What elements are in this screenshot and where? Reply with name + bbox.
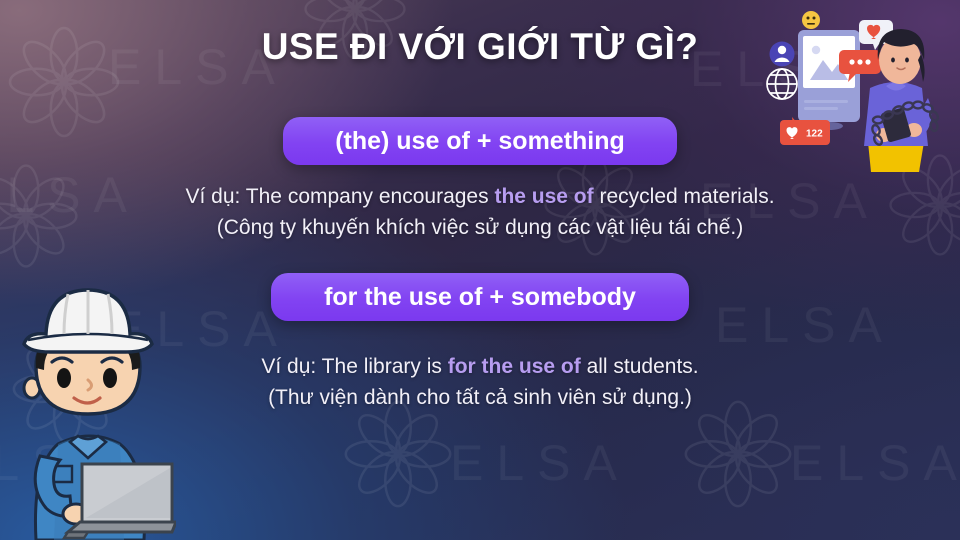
laptop bbox=[64, 464, 176, 538]
example-suffix: all students. bbox=[581, 355, 699, 378]
emoji-neutral-icon bbox=[802, 11, 820, 29]
example-highlight: for the use of bbox=[448, 355, 581, 378]
watermark-elsa: ELSA bbox=[790, 434, 960, 492]
example-block-1: Ví dụ: The company encourages the use of… bbox=[0, 181, 960, 243]
hard-hat bbox=[24, 290, 152, 352]
social-media-illustration: 122 bbox=[758, 2, 954, 172]
watermark-elsa: ELSA bbox=[715, 296, 895, 354]
engineer-illustration bbox=[6, 270, 176, 540]
rosette-ornament bbox=[340, 396, 456, 512]
likes-count: 122 bbox=[806, 129, 823, 140]
example-english-1: Ví dụ: The company encourages the use of… bbox=[0, 181, 960, 212]
rule-pill-1: (the) use of + something bbox=[283, 117, 677, 165]
example-highlight: the use of bbox=[494, 185, 593, 208]
example-prefix: Ví dụ: The company encourages bbox=[185, 185, 494, 208]
slide-canvas: ELSA ELSA ELSA ELSA ELSA ELSA ELSA ELSA … bbox=[0, 0, 960, 540]
watermark-elsa: ELSA bbox=[450, 434, 630, 492]
example-vietnamese-1: (Công ty khuyến khích việc sử dụng các v… bbox=[0, 212, 960, 243]
rosette-ornament bbox=[680, 396, 796, 512]
example-suffix: recycled materials. bbox=[594, 185, 775, 208]
user-avatar-icon bbox=[770, 42, 795, 67]
heart-likes-badge: 122 bbox=[780, 117, 830, 145]
globe-icon bbox=[767, 69, 797, 99]
example-prefix: Ví dụ: The library is bbox=[261, 355, 447, 378]
rule-pill-2: for the use of + somebody bbox=[271, 273, 689, 321]
phone-mockup bbox=[798, 30, 860, 130]
